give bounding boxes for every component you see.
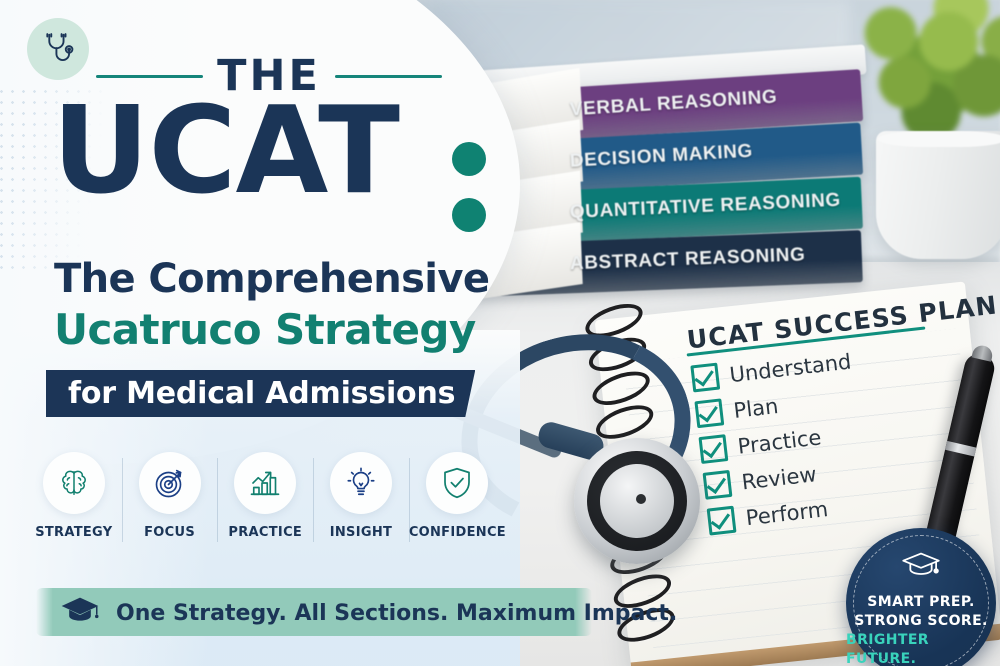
feature-label: INSIGHT xyxy=(330,525,392,540)
subtitle-banner-label: for Medical Admissions xyxy=(68,376,455,411)
status-badge: SMART PREP. STRONG SCORE. BRIGHTER FUTUR… xyxy=(846,528,996,666)
feature-label: CONFIDENCE xyxy=(409,525,506,540)
subtitle-line-2: Ucatruco Strategy xyxy=(54,305,476,354)
lightbulb-icon xyxy=(330,452,392,514)
feature-label: STRATEGY xyxy=(35,525,112,540)
footer-ribbon-content: One Strategy. All Sections. Maximum Impa… xyxy=(60,596,677,630)
checkbox-checked-icon xyxy=(703,470,733,500)
checklist-item-label: Review xyxy=(740,462,817,494)
page-title: UCAT xyxy=(52,92,399,212)
graduation-cap-icon xyxy=(899,550,943,587)
feature-confidence[interactable]: CONFIDENCE xyxy=(409,452,506,562)
checklist-item-label: Plan xyxy=(732,394,779,423)
plant-pot xyxy=(876,131,1000,259)
shield-check-icon xyxy=(426,452,488,514)
stethoscope-icon xyxy=(27,18,89,80)
checklist-item-label: Perform xyxy=(745,497,830,530)
stethoscope-chestpiece xyxy=(574,438,700,564)
feature-focus[interactable]: FOCUS xyxy=(122,452,218,562)
feature-strategy[interactable]: STRATEGY xyxy=(26,452,122,562)
feature-icon-row: STRATEGY FOCUS xyxy=(26,452,506,562)
feature-insight[interactable]: INSIGHT xyxy=(313,452,409,562)
kicker-rule-left xyxy=(96,75,203,78)
checkbox-checked-icon xyxy=(707,506,737,536)
book-spine: ABSTRACT REASONING xyxy=(451,230,863,298)
feature-label: FOCUS xyxy=(144,525,195,540)
checklist-item-label: Practice xyxy=(736,425,822,458)
seal-line-1: SMART PREP. xyxy=(867,593,974,612)
colon-dots-icon xyxy=(452,142,486,232)
checkbox-checked-icon xyxy=(694,398,724,428)
seal-line-2: STRONG SCORE. xyxy=(854,612,988,631)
footer-tagline: One Strategy. All Sections. Maximum Impa… xyxy=(116,601,677,626)
notepad-checklist: Understand Plan Practice Review Perform xyxy=(690,348,870,545)
feature-practice[interactable]: PRACTICE xyxy=(217,452,313,562)
checklist-item: Perform xyxy=(707,491,869,536)
brain-icon xyxy=(43,452,105,514)
feature-label: PRACTICE xyxy=(228,525,302,540)
kicker-rule-right xyxy=(335,75,442,78)
plant-foliage xyxy=(852,0,1000,148)
bar-chart-growth-icon xyxy=(234,452,296,514)
stethoscope-chestpiece-dot xyxy=(636,494,646,504)
poster-canvas: VERBAL REASONING DECISION MAKING QUANTIT… xyxy=(0,0,1000,666)
checkbox-checked-icon xyxy=(698,434,728,464)
pen-metal-band xyxy=(945,441,976,457)
checkbox-checked-icon xyxy=(690,363,720,393)
target-icon xyxy=(139,452,201,514)
graduation-cap-icon xyxy=(60,596,100,631)
subtitle-line-1: The Comprehensive xyxy=(54,256,489,302)
seal-line-3: BRIGHTER FUTURE. xyxy=(846,631,996,666)
subtitle-banner: for Medical Admissions xyxy=(46,370,475,417)
